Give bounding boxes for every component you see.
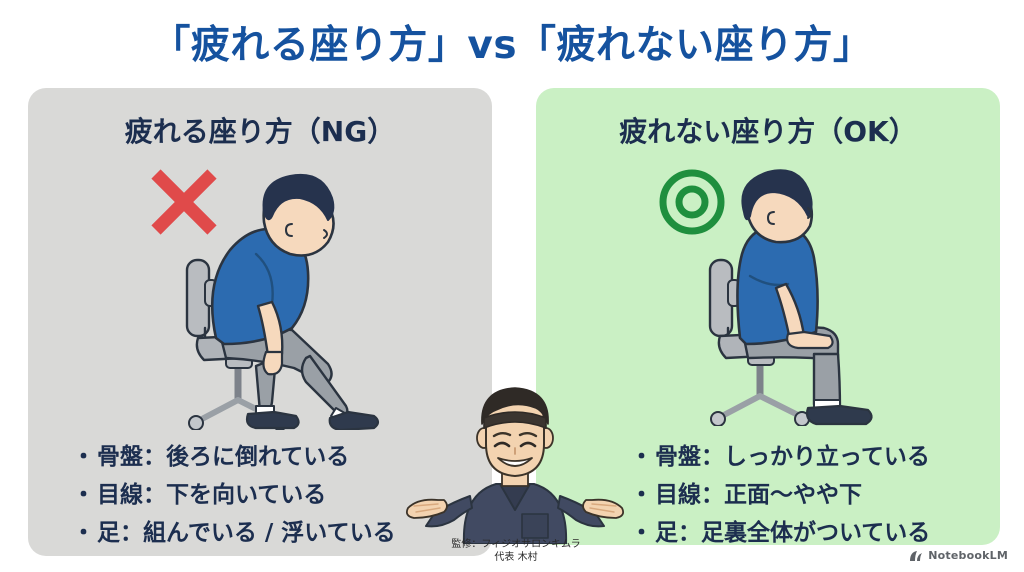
slouched-sitting-person-illustration bbox=[160, 168, 396, 430]
list-item: ・足：組んでいる / 浮いている bbox=[72, 516, 396, 550]
bullet-text: 骨盤：後ろに倒れている bbox=[97, 444, 349, 470]
watermark: NotebookLM bbox=[909, 549, 1008, 562]
upright-sitting-person-illustration bbox=[688, 168, 914, 426]
bullet-text: 足：足裏全体がついている bbox=[655, 520, 930, 546]
bullet-dot: ・ bbox=[630, 516, 653, 550]
list-item: ・目線：下を向いている bbox=[72, 478, 396, 512]
caption-line-1: 監修：フィジオサロンキムラ bbox=[400, 538, 632, 551]
bullet-text: 骨盤：しっかり立っている bbox=[655, 444, 930, 470]
list-item: ・骨盤：後ろに倒れている bbox=[72, 440, 396, 474]
infographic-canvas: 「疲れる座り方」vs「疲れない座り方」 疲れる座り方（NG） bbox=[0, 0, 1024, 572]
bullet-text: 目線：下を向いている bbox=[97, 482, 326, 508]
bullet-dot: ・ bbox=[630, 440, 653, 474]
smiling-presenter-illustration bbox=[404, 386, 626, 544]
list-item: ・足：足裏全体がついている bbox=[630, 516, 930, 550]
caption-line-2: 代表 木村 bbox=[400, 551, 632, 564]
bullet-list-ng: ・骨盤：後ろに倒れている ・目線：下を向いている ・足：組んでいる / 浮いてい… bbox=[72, 440, 396, 554]
bullet-text: 目線：正面〜やや下 bbox=[655, 482, 862, 508]
panel-ng-heading: 疲れる座り方（NG） bbox=[28, 110, 492, 150]
bullet-dot: ・ bbox=[72, 516, 95, 550]
supervisor-caption: 監修：フィジオサロンキムラ 代表 木村 bbox=[400, 538, 632, 564]
page-title: 「疲れる座り方」vs「疲れない座り方」 bbox=[0, 14, 1024, 70]
bullet-dot: ・ bbox=[72, 440, 95, 474]
notebooklm-logo-icon bbox=[909, 550, 923, 562]
bullet-list-ok: ・骨盤：しっかり立っている ・目線：正面〜やや下 ・足：足裏全体がついている bbox=[630, 440, 930, 554]
panel-ok-heading: 疲れない座り方（OK） bbox=[536, 110, 1000, 150]
bullet-dot: ・ bbox=[630, 478, 653, 512]
watermark-label: NotebookLM bbox=[928, 549, 1008, 562]
list-item: ・目線：正面〜やや下 bbox=[630, 478, 930, 512]
bullet-text: 足：組んでいる / 浮いている bbox=[97, 520, 396, 546]
list-item: ・骨盤：しっかり立っている bbox=[630, 440, 930, 474]
bullet-dot: ・ bbox=[72, 478, 95, 512]
